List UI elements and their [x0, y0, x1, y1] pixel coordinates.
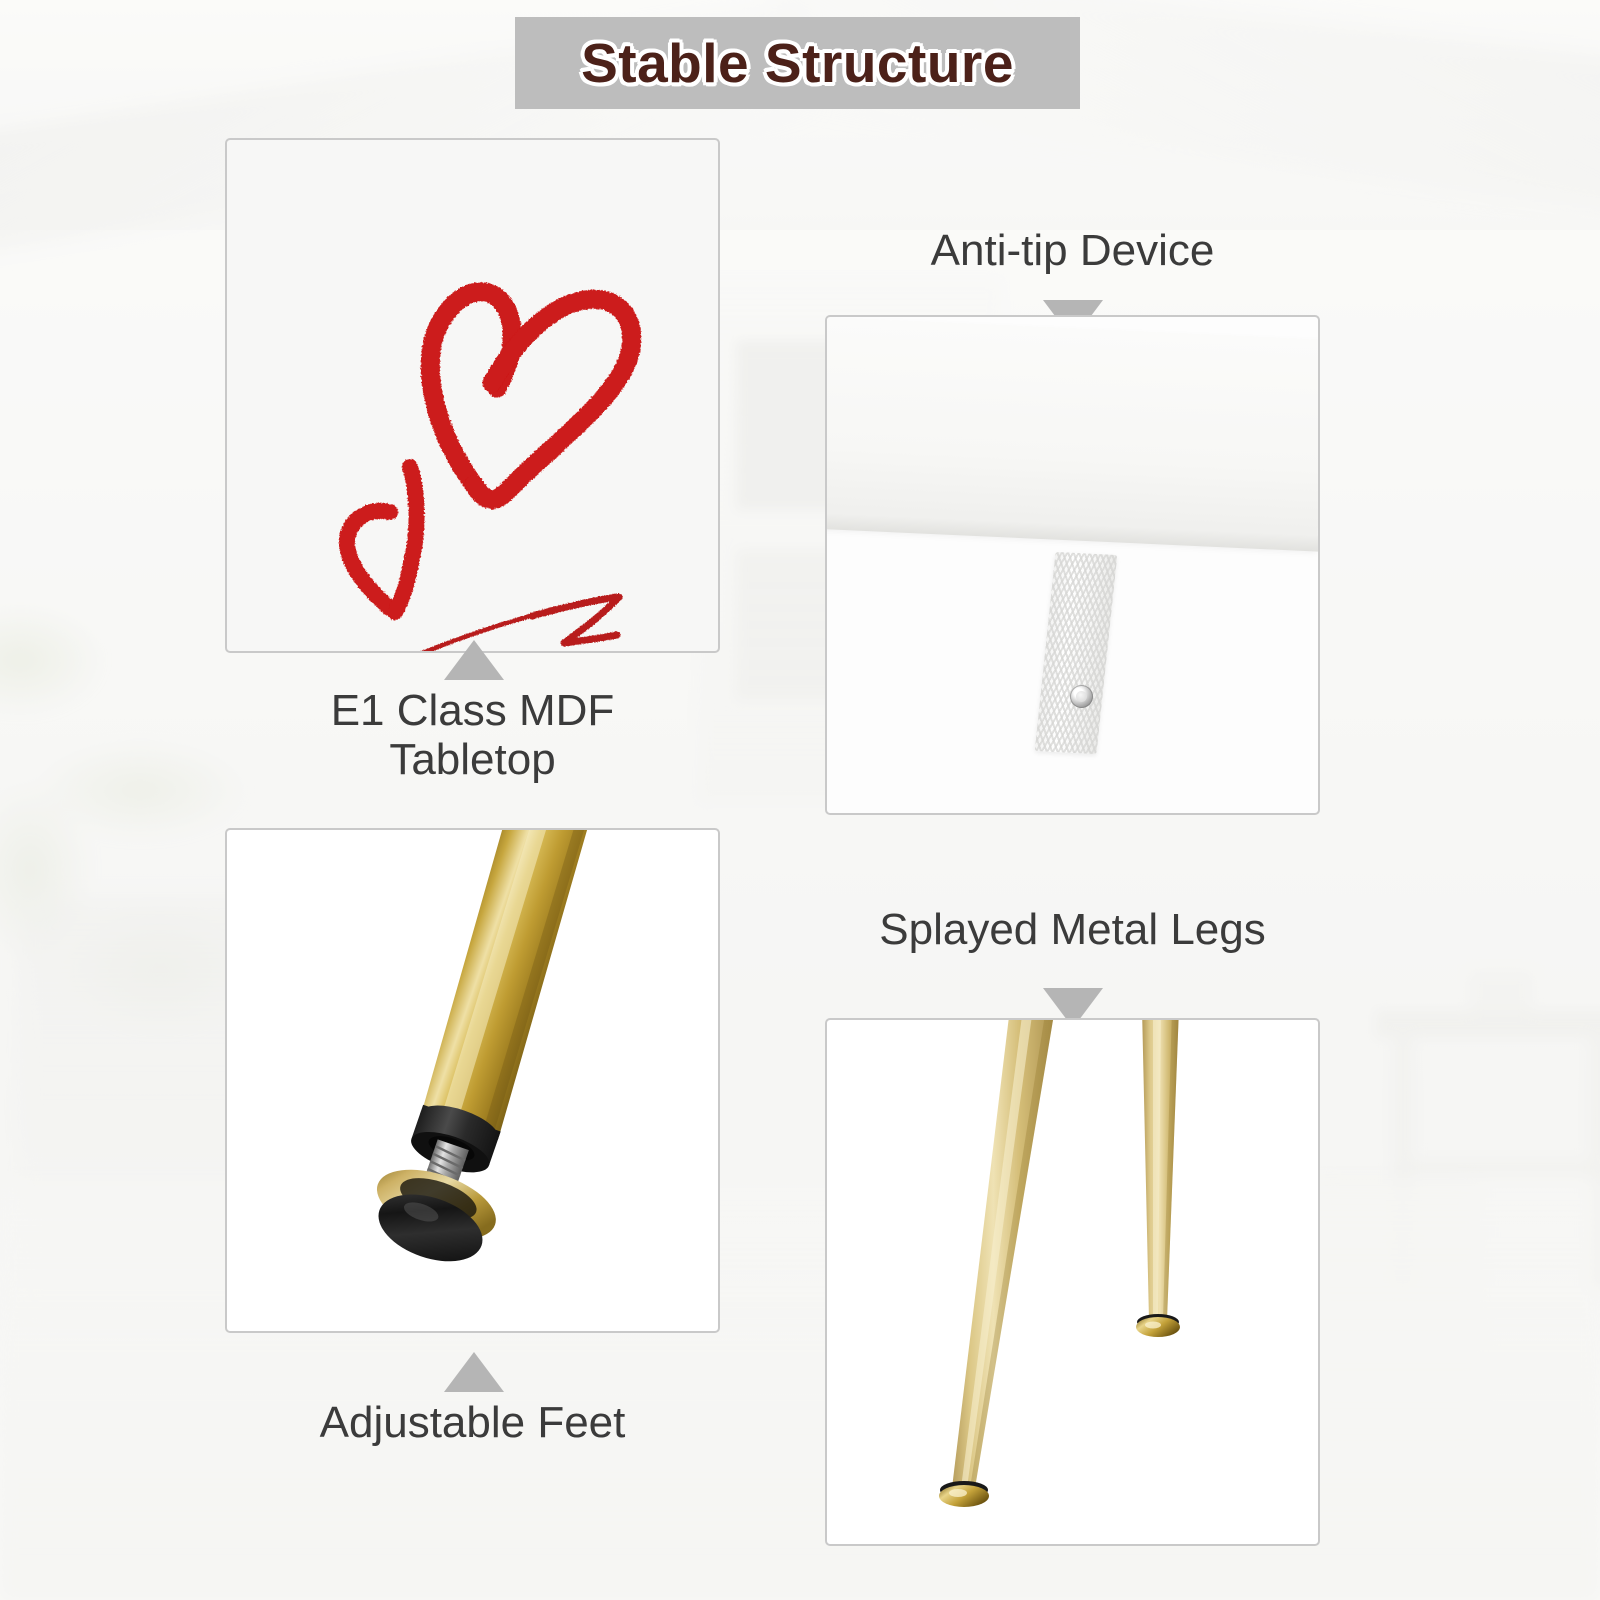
feature-label-anti-tip-device: Anti-tip Device	[830, 226, 1315, 275]
anti-tip-webbing-strap	[1035, 552, 1118, 754]
pointer-triangle-adjustable-feet	[444, 1352, 504, 1392]
feature-card-anti-tip-device	[825, 315, 1320, 815]
strap-grommet	[1070, 685, 1093, 708]
feature-label-splayed-metal-legs: Splayed Metal Legs	[830, 905, 1315, 954]
feature-card-splayed-metal-legs	[825, 1018, 1320, 1546]
feature-label-adjustable-feet: Adjustable Feet	[220, 1398, 725, 1447]
feature-card-mdf-tabletop	[225, 138, 720, 653]
feature-card-adjustable-feet	[225, 828, 720, 1333]
adjustable-foot-illustration	[227, 830, 720, 1333]
pointer-triangle-mdf-tabletop	[444, 640, 504, 680]
infographic-stage: Stable Structure	[0, 0, 1600, 1600]
red-marker-hearts-illustration	[227, 140, 718, 651]
tabletop-underside	[825, 317, 1320, 550]
feature-label-mdf-tabletop: E1 Class MDF Tabletop	[220, 686, 725, 785]
page-title: Stable Structure	[515, 17, 1080, 109]
splayed-legs-illustration	[827, 1020, 1320, 1546]
